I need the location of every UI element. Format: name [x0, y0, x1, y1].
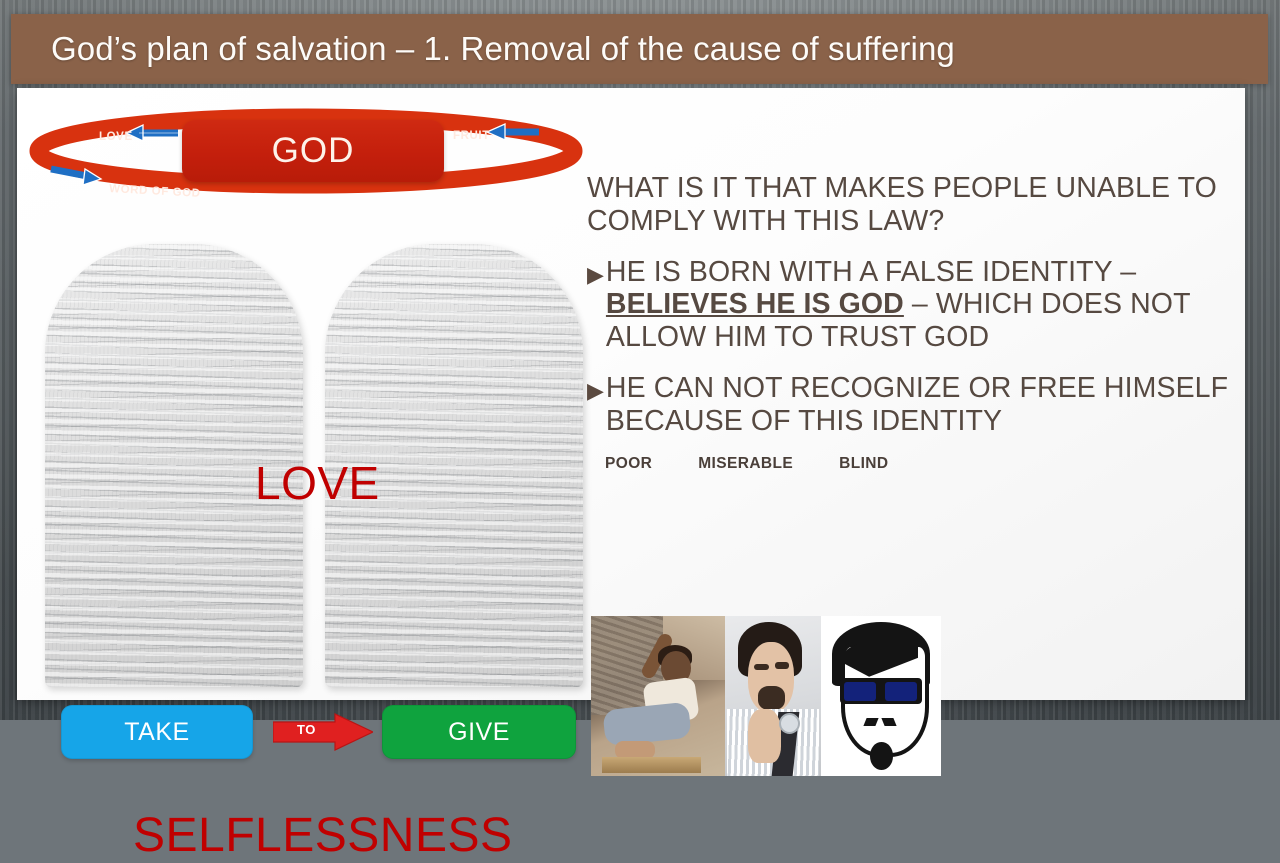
stone-tablets-group: LOVE TAKE TO GIVE SELFLESSNESS	[25, 238, 585, 693]
caption-miserable: MISERABLE	[698, 455, 793, 473]
god-center-box: GOD	[182, 120, 444, 182]
page-title: God’s plan of salvation – 1. Removal of …	[51, 30, 955, 68]
god-cycle-diagram: LOVE FRUIT WORD OF GOD GOD	[21, 103, 591, 198]
bullet-2-text: HE CAN NOT RECOGNIZE OR FREE HIMSELF BEC…	[606, 372, 1237, 438]
photo-captions-row: POOR MISERABLE BLIND	[605, 455, 1237, 473]
bullet-1-pre: HE IS BORN WITH A FALSE IDENTITY –	[606, 256, 1136, 288]
cycle-label-fruit: FRUIT	[453, 130, 490, 142]
selflessness-heading: SELFLESSNESS	[133, 808, 513, 863]
cycle-label-love: LOVE	[99, 131, 133, 143]
bullet-item-1: ▶ HE IS BORN WITH A FALSE IDENTITY – BEL…	[587, 256, 1237, 354]
bullet-1-emphasis: BELIEVES HE IS GOD	[606, 288, 904, 320]
photo-strip	[591, 616, 941, 776]
blind-face-icon-photo	[821, 616, 941, 776]
bullet-triangle-icon: ▶	[587, 380, 604, 402]
pensive-man-photo	[725, 616, 821, 776]
content-text-column: WHAT IS IT THAT MAKES PEOPLE UNABLE TO C…	[587, 172, 1237, 473]
take-label: TAKE	[124, 718, 189, 747]
give-label: GIVE	[448, 718, 510, 747]
god-label: GOD	[272, 131, 355, 171]
caption-blind: BLIND	[839, 455, 888, 473]
take-button[interactable]: TAKE	[61, 705, 253, 759]
caption-poor: POOR	[605, 455, 652, 473]
bullet-item-2: ▶ HE CAN NOT RECOGNIZE OR FREE HIMSELF B…	[587, 372, 1237, 438]
question-text: WHAT IS IT THAT MAKES PEOPLE UNABLE TO C…	[587, 172, 1237, 238]
to-arrow-icon	[273, 713, 373, 751]
poor-man-photo	[591, 616, 725, 776]
to-label: TO	[297, 722, 316, 737]
bullet-1-text: HE IS BORN WITH A FALSE IDENTITY – BELIE…	[606, 256, 1237, 354]
slide-canvas: LOVE FRUIT WORD OF GOD GOD LOVE TAKE TO …	[17, 88, 1245, 700]
bullet-triangle-icon: ▶	[587, 264, 604, 286]
slide-title-bar: God’s plan of salvation – 1. Removal of …	[11, 14, 1268, 84]
give-button[interactable]: GIVE	[382, 705, 576, 759]
love-heading: LOVE	[255, 456, 380, 510]
